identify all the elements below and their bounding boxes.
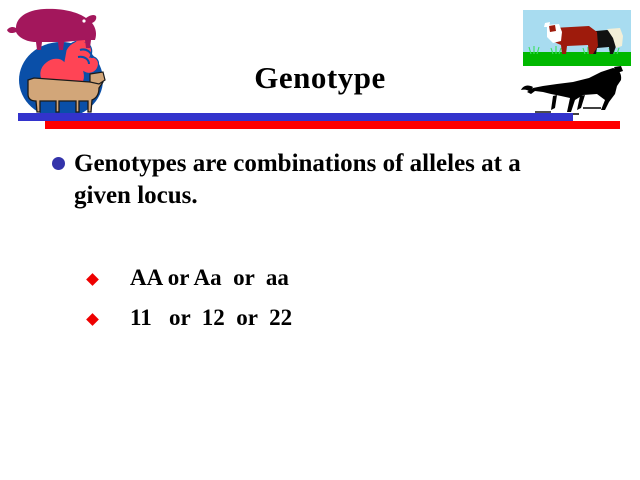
slide-body: Genotypes are combinations of alleles at…: [0, 135, 640, 480]
bullet-item-level1: Genotypes are combinations of alleles at…: [52, 148, 592, 212]
header-rule-blue: [18, 113, 573, 121]
header-rule-red: [45, 121, 620, 129]
bullet-level2-text-numbers: 11 or 12 or 22: [130, 303, 292, 333]
diamond-bullet-icon: [86, 313, 99, 326]
bullet-list-level2: AA or Aa or aa 11 or 12 or 22: [88, 263, 548, 343]
bullet-item-genotype-letters: AA or Aa or aa: [88, 263, 548, 303]
cattle-pasture-photo: [523, 10, 631, 66]
bullet-level2-text-letters: AA or Aa or aa: [130, 263, 289, 293]
slide-title: Genotype: [0, 60, 640, 96]
diamond-bullet-icon: [86, 273, 99, 286]
bullet-item-genotype-numbers: 11 or 12 or 22: [88, 303, 548, 343]
slide-header: Genotype: [0, 0, 640, 135]
bullet-level1-text: Genotypes are combinations of alleles at…: [74, 148, 574, 212]
disc-bullet-icon: [52, 157, 65, 170]
